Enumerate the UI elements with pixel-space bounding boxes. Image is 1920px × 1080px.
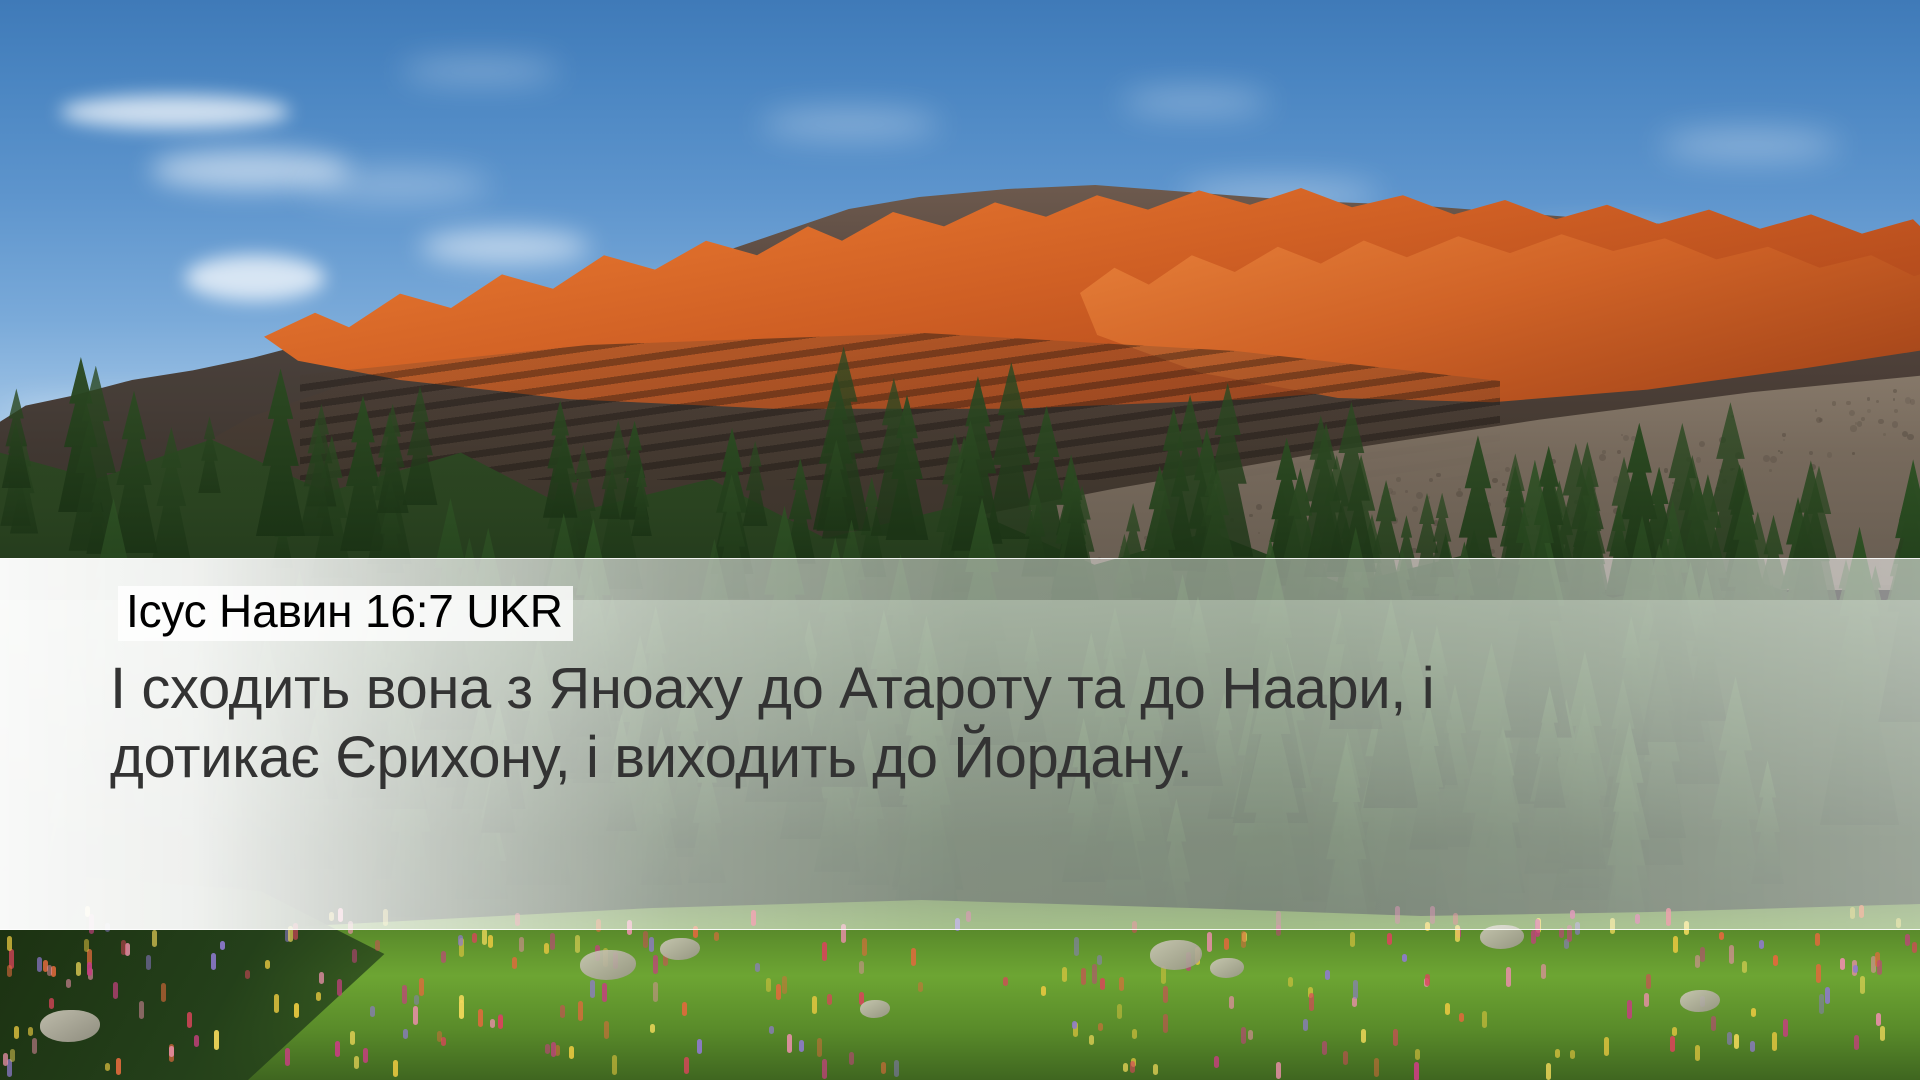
wildflower <box>274 994 279 1013</box>
wildflower <box>1750 1041 1755 1052</box>
wildflower <box>285 1048 290 1066</box>
wildflower <box>650 1024 655 1033</box>
wildflower <box>1815 933 1820 946</box>
scree-speck <box>1429 478 1433 482</box>
cloud <box>420 230 590 264</box>
wildflower <box>10 1049 15 1062</box>
wildflower <box>354 1056 359 1069</box>
wildflower <box>1288 977 1293 987</box>
wildflower <box>697 1039 702 1054</box>
wildflower <box>817 1038 822 1057</box>
scree-speck <box>1412 506 1418 512</box>
wildflower <box>458 935 463 946</box>
verse-reference-label: Ісус Навин 16:7 UKR <box>118 586 573 641</box>
wildflower <box>482 929 487 944</box>
wildflower <box>370 1006 375 1017</box>
wildflower <box>441 951 446 963</box>
wildflower <box>1041 986 1046 997</box>
wildflower <box>575 935 580 953</box>
wildflower <box>604 1021 609 1039</box>
wildflower <box>1555 1049 1560 1059</box>
scree-speck <box>1416 492 1423 499</box>
wildflower <box>1003 977 1008 986</box>
wildflower <box>66 979 71 989</box>
wildflower <box>551 1042 556 1057</box>
wildflower <box>402 985 407 1004</box>
wildflower <box>1303 1019 1308 1031</box>
scree-speck <box>1861 417 1865 421</box>
wildflower <box>413 1006 418 1026</box>
wildflower <box>1309 993 1314 1011</box>
wildflower <box>14 1026 19 1039</box>
cloud <box>400 60 560 82</box>
wildflower <box>653 982 658 1001</box>
wildflower <box>550 933 555 950</box>
wildflower <box>1361 1029 1366 1043</box>
wildflower <box>643 931 648 948</box>
wildflower <box>265 960 270 969</box>
wildflower <box>1506 967 1511 987</box>
wildflower <box>1751 1008 1756 1017</box>
wildflower <box>1425 974 1430 987</box>
scree-speck <box>1696 457 1702 463</box>
wildflower <box>1729 945 1734 964</box>
wildflower <box>478 1009 483 1027</box>
scree-speck <box>1876 400 1879 403</box>
wildflower <box>245 970 250 979</box>
cloud <box>185 255 325 301</box>
wildflower <box>87 962 92 976</box>
wildflower <box>544 943 549 954</box>
wildflower <box>1100 978 1105 990</box>
wildflower <box>1163 1014 1168 1033</box>
wildflower <box>214 1030 219 1049</box>
wildflower <box>555 1045 560 1056</box>
wildflower <box>881 1062 886 1075</box>
wildflower <box>1905 934 1910 947</box>
wildflower <box>1783 1019 1788 1037</box>
wildflower <box>1214 1056 1219 1068</box>
wildflower <box>1350 932 1355 947</box>
wildflower <box>1825 987 1830 1003</box>
wildflower <box>337 979 342 997</box>
wildflower <box>612 1055 617 1075</box>
wildflower <box>766 978 771 991</box>
wildflower <box>755 963 760 973</box>
wildflower <box>161 983 166 1002</box>
scree-speck <box>1405 490 1408 493</box>
wildflower <box>472 933 477 943</box>
wildflower <box>1711 1016 1716 1031</box>
cloud <box>1660 130 1840 160</box>
wildflower <box>590 980 595 997</box>
wildflower <box>1877 960 1882 975</box>
wildflower <box>32 1038 37 1054</box>
wildflower <box>49 998 54 1009</box>
wildflower <box>488 935 493 948</box>
scree-speck <box>1436 473 1440 477</box>
wildflower <box>1819 994 1824 1013</box>
wildflower <box>47 965 52 976</box>
wildflower <box>1224 938 1229 950</box>
wildflower <box>782 976 787 995</box>
wildflower <box>1445 1003 1450 1015</box>
scree-speck <box>1623 435 1629 441</box>
scree-speck <box>1857 421 1862 426</box>
wildflower <box>1081 968 1086 986</box>
wildflower <box>1123 1063 1128 1072</box>
wildflower <box>194 1035 199 1047</box>
wildflower <box>1734 1034 1739 1050</box>
wildflower <box>578 1001 583 1021</box>
wildflower <box>152 930 157 947</box>
wildflower <box>113 982 118 999</box>
wildflower <box>1860 976 1865 994</box>
wildflower <box>1374 1058 1379 1077</box>
verse-image-card: Ісус Навин 16:7 UKR І сходить вона з Яно… <box>0 0 1920 1080</box>
wildflower <box>1719 932 1724 940</box>
wildflower <box>393 1060 398 1078</box>
wildflower <box>1531 930 1536 943</box>
wildflower <box>1207 932 1212 952</box>
wildflower <box>1353 980 1358 999</box>
wildflower <box>822 942 827 960</box>
cloud <box>760 110 940 138</box>
wildflower <box>335 1041 340 1057</box>
cloud <box>60 95 290 129</box>
cloud <box>1120 90 1270 114</box>
wildflower <box>1132 1029 1137 1039</box>
wildflower <box>352 949 357 964</box>
scree-speck <box>1827 452 1833 458</box>
wildflower <box>498 1015 503 1030</box>
scree-speck <box>1783 439 1785 441</box>
wildflower <box>441 1037 446 1046</box>
wildflower <box>911 948 916 966</box>
wildflower <box>105 1063 110 1071</box>
scree-speck <box>1815 409 1817 411</box>
scree-speck <box>1769 469 1772 472</box>
scree-speck <box>1617 450 1621 454</box>
wildflower <box>1343 1051 1348 1065</box>
scree-speck <box>1256 504 1262 510</box>
wildflower <box>1402 954 1407 962</box>
wildflower <box>419 978 424 996</box>
wildflower <box>1393 1029 1398 1046</box>
wildflower <box>211 953 216 970</box>
wildflower <box>1241 1027 1246 1043</box>
wildflower <box>862 938 867 956</box>
wildflower <box>125 943 130 956</box>
wildflower <box>1089 1035 1094 1045</box>
scree-speck <box>1770 456 1777 463</box>
wildflower <box>294 1003 299 1018</box>
wildflower <box>1276 1062 1281 1079</box>
scree-speck <box>1782 433 1785 436</box>
wildflower <box>1387 933 1392 945</box>
scree-speck <box>1780 451 1783 454</box>
wildflower <box>653 955 658 974</box>
wildflower <box>1672 1027 1677 1036</box>
scree-speck <box>1832 401 1837 406</box>
wildflower <box>1092 964 1097 984</box>
wildflower <box>37 957 42 972</box>
wildflower <box>512 957 517 969</box>
scree-speck <box>1492 478 1498 484</box>
wildflower <box>1772 1032 1777 1051</box>
wildflower <box>116 1058 121 1075</box>
wildflower <box>1072 1021 1077 1029</box>
wildflower <box>812 996 817 1014</box>
scree-speck <box>1905 397 1911 403</box>
scree-speck <box>1809 451 1813 455</box>
cloud <box>300 170 490 200</box>
wildflower <box>1119 977 1124 991</box>
wildflower <box>569 1046 574 1059</box>
wildflower <box>459 1000 464 1019</box>
scree-speck <box>1894 409 1898 413</box>
wildflower <box>319 972 324 983</box>
wildflower <box>1248 1030 1253 1040</box>
wildflower <box>1646 974 1651 988</box>
scree-speck <box>1763 455 1770 462</box>
wildflower <box>437 1031 442 1043</box>
wildflower <box>1241 931 1246 949</box>
wildflower <box>414 995 419 1005</box>
wildflower <box>560 1005 565 1018</box>
wildflower <box>918 982 923 992</box>
wildflower <box>776 984 781 1000</box>
wildflower <box>490 1019 495 1028</box>
scree-speck <box>1396 477 1401 482</box>
wildflower <box>169 1046 174 1057</box>
wildflower <box>403 1029 408 1039</box>
wildflower <box>1854 1035 1859 1050</box>
wildflower <box>1816 964 1821 982</box>
wildflower <box>1853 965 1858 973</box>
wildflower <box>1153 1064 1158 1075</box>
scree-speck <box>1850 425 1856 431</box>
wildflower <box>1098 1023 1103 1031</box>
wildflower <box>799 1040 804 1051</box>
wildflower <box>649 937 654 952</box>
wildflower <box>1459 1013 1464 1021</box>
wildflower <box>84 939 89 951</box>
wildflower <box>1130 1061 1135 1073</box>
wildflower <box>1840 958 1845 970</box>
wildflower <box>1670 1036 1675 1052</box>
wildflower <box>1876 1013 1881 1027</box>
wildflower <box>1414 1062 1419 1080</box>
wildflower <box>1062 967 1067 982</box>
wildflower <box>1627 1000 1632 1019</box>
wildflower <box>1482 1011 1487 1028</box>
wildflower <box>1700 947 1705 962</box>
wildflower <box>1673 936 1678 953</box>
wildflower <box>28 1027 33 1036</box>
wildflower <box>894 1060 899 1077</box>
wildflower <box>822 1059 827 1079</box>
wildflower <box>7 936 12 950</box>
wildflower <box>827 994 832 1005</box>
wildflower <box>375 940 380 951</box>
wildflower <box>1541 964 1546 978</box>
wildflower <box>1742 961 1747 973</box>
wildflower <box>1912 942 1917 953</box>
wildflower <box>7 965 12 977</box>
wildflower <box>1727 1032 1732 1046</box>
wildflower <box>682 1002 687 1016</box>
wildflower <box>859 961 864 974</box>
wildflower <box>1604 1037 1609 1057</box>
wildflower <box>1097 955 1102 965</box>
wildflower <box>139 1001 144 1019</box>
scree-speck <box>1778 450 1780 452</box>
wildflower <box>849 1052 854 1065</box>
wildflower <box>363 1048 368 1062</box>
wildflower <box>1695 1045 1700 1061</box>
wildflower <box>316 992 321 1001</box>
wildflower <box>121 940 126 955</box>
scree-speck <box>1893 398 1895 400</box>
wildflower <box>76 962 81 976</box>
scree-speck <box>1846 401 1850 405</box>
wildflower <box>1322 1041 1327 1054</box>
wildflower <box>1759 940 1764 949</box>
wildflower <box>1117 1004 1122 1019</box>
wildflower <box>1880 1026 1885 1041</box>
wildflower <box>3 1053 8 1067</box>
wildflower <box>1570 1050 1575 1059</box>
wildflower <box>714 932 719 940</box>
wildflower <box>787 1034 792 1053</box>
scree-speck <box>1878 419 1884 425</box>
wildflower <box>1163 986 1168 1004</box>
scree-speck <box>1599 454 1606 461</box>
wildflower <box>519 937 524 952</box>
verse-text: І сходить вона з Яноаху до Атароту та до… <box>110 654 1510 792</box>
wildflower <box>1229 996 1234 1009</box>
wildflower <box>602 983 607 1002</box>
wildflower <box>545 1044 550 1055</box>
wildflower <box>1546 1063 1551 1080</box>
wildflower <box>1644 993 1649 1007</box>
wildflower <box>350 1031 355 1045</box>
wildflower <box>187 1012 192 1028</box>
wildflower <box>684 1057 689 1074</box>
wildflower <box>1074 937 1079 956</box>
wildflower <box>146 955 151 970</box>
wildflower <box>1773 955 1778 966</box>
